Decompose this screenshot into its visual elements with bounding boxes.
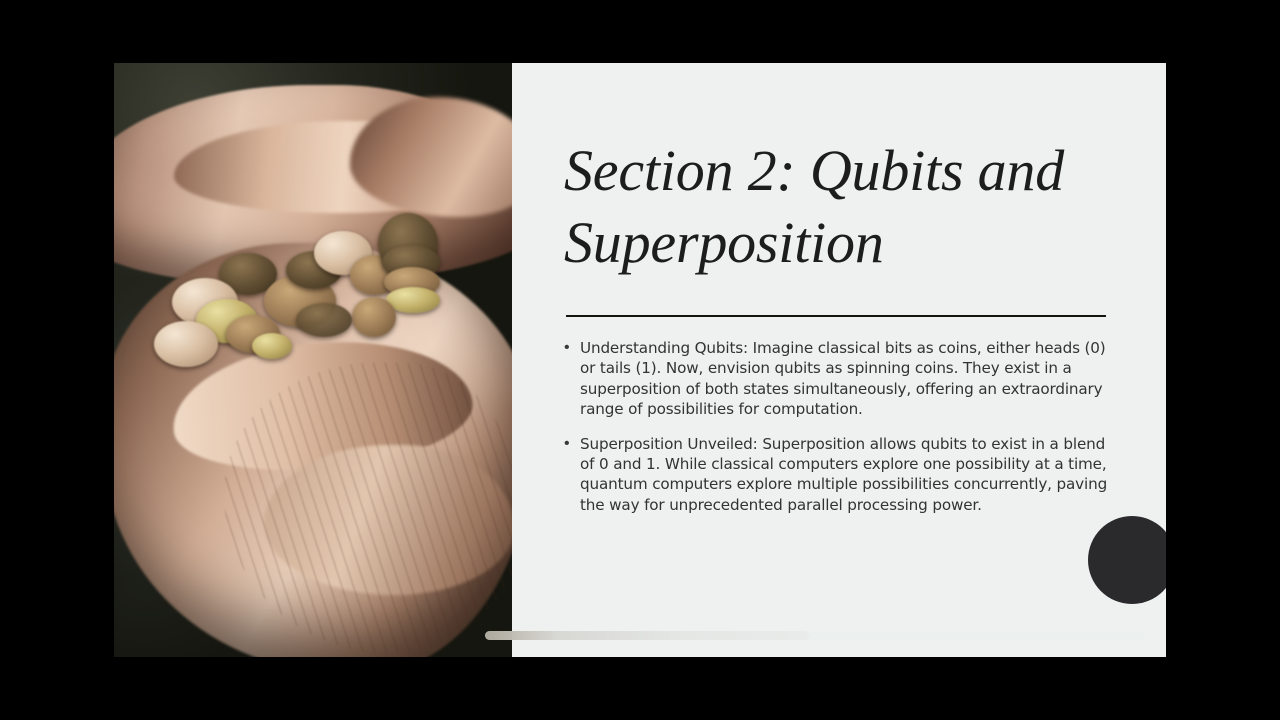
bullet-point-icon: • bbox=[564, 434, 580, 516]
bullet-text: Superposition Unveiled: Superposition al… bbox=[580, 434, 1124, 516]
photo-coin bbox=[154, 321, 218, 367]
dark-accent-circle-icon bbox=[1088, 516, 1166, 604]
photo-coin bbox=[296, 303, 352, 337]
video-player-viewport: Section 2: Qubits and Superposition • Un… bbox=[0, 0, 1280, 720]
horizontal-scrollbar-thumb[interactable] bbox=[485, 631, 809, 640]
slide-title: Section 2: Qubits and Superposition bbox=[564, 135, 1124, 279]
title-divider bbox=[566, 315, 1106, 317]
slide-bullet-list: • Understanding Qubits: Imagine classica… bbox=[564, 338, 1124, 529]
slide-text-panel: Section 2: Qubits and Superposition • Un… bbox=[512, 63, 1166, 657]
photo-coin bbox=[352, 297, 396, 337]
photo-coin bbox=[252, 333, 292, 359]
list-item: • Understanding Qubits: Imagine classica… bbox=[564, 338, 1124, 420]
slide-image-hands-holding-coins bbox=[114, 63, 512, 657]
bullet-point-icon: • bbox=[564, 338, 580, 420]
presentation-slide: Section 2: Qubits and Superposition • Un… bbox=[114, 63, 1166, 657]
list-item: • Superposition Unveiled: Superposition … bbox=[564, 434, 1124, 516]
bullet-text: Understanding Qubits: Imagine classical … bbox=[580, 338, 1124, 420]
